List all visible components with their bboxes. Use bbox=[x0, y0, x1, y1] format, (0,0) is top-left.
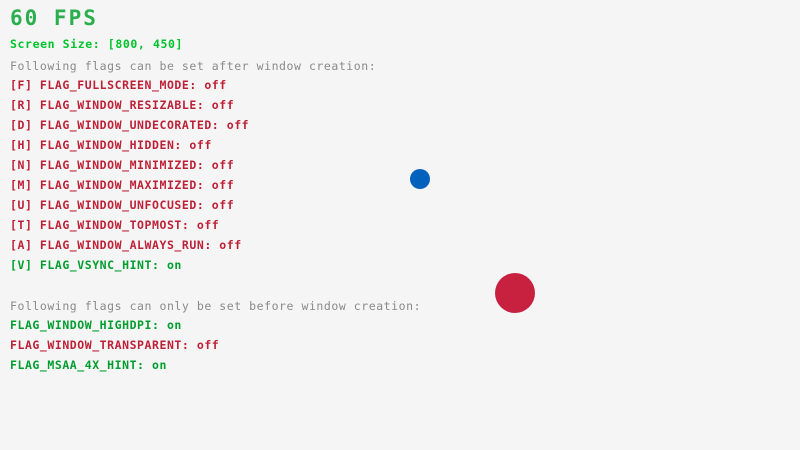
flag-section-heading: Following flags can be set after window … bbox=[10, 59, 376, 73]
flag-row-flag-window-unfocused[interactable]: [U] FLAG_WINDOW_UNFOCUSED: off bbox=[10, 198, 234, 212]
flag-row-flag-msaa-4x-hint[interactable]: FLAG_MSAA_4X_HINT: on bbox=[10, 358, 167, 372]
hud-overlay: 60 FPS Screen Size: [800, 450] Following… bbox=[0, 0, 800, 450]
flag-row-flag-vsync-hint[interactable]: [V] FLAG_VSYNC_HINT: on bbox=[10, 258, 182, 272]
flag-row-flag-window-transparent[interactable]: FLAG_WINDOW_TRANSPARENT: off bbox=[10, 338, 219, 352]
flag-row-flag-window-highdpi[interactable]: FLAG_WINDOW_HIGHDPI: on bbox=[10, 318, 182, 332]
flag-row-flag-window-topmost[interactable]: [T] FLAG_WINDOW_TOPMOST: off bbox=[10, 218, 219, 232]
flag-row-flag-window-resizable[interactable]: [R] FLAG_WINDOW_RESIZABLE: off bbox=[10, 98, 234, 112]
flag-row-flag-fullscreen-mode[interactable]: [F] FLAG_FULLSCREEN_MODE: off bbox=[10, 78, 227, 92]
flag-row-flag-window-hidden[interactable]: [H] FLAG_WINDOW_HIDDEN: off bbox=[10, 138, 212, 152]
flag-section-heading: Following flags can only be set before w… bbox=[10, 299, 421, 313]
fps-counter: 60 FPS bbox=[10, 6, 98, 30]
flag-row-flag-window-minimized[interactable]: [N] FLAG_WINDOW_MINIMIZED: off bbox=[10, 158, 234, 172]
game-window[interactable]: 60 FPS Screen Size: [800, 450] Following… bbox=[0, 0, 800, 450]
flag-row-flag-window-maximized[interactable]: [M] FLAG_WINDOW_MAXIMIZED: off bbox=[10, 178, 234, 192]
flag-row-flag-window-undecorated[interactable]: [D] FLAG_WINDOW_UNDECORATED: off bbox=[10, 118, 249, 132]
screen-size-label: Screen Size: [800, 450] bbox=[10, 37, 183, 51]
flag-row-flag-window-always-run[interactable]: [A] FLAG_WINDOW_ALWAYS_RUN: off bbox=[10, 238, 242, 252]
